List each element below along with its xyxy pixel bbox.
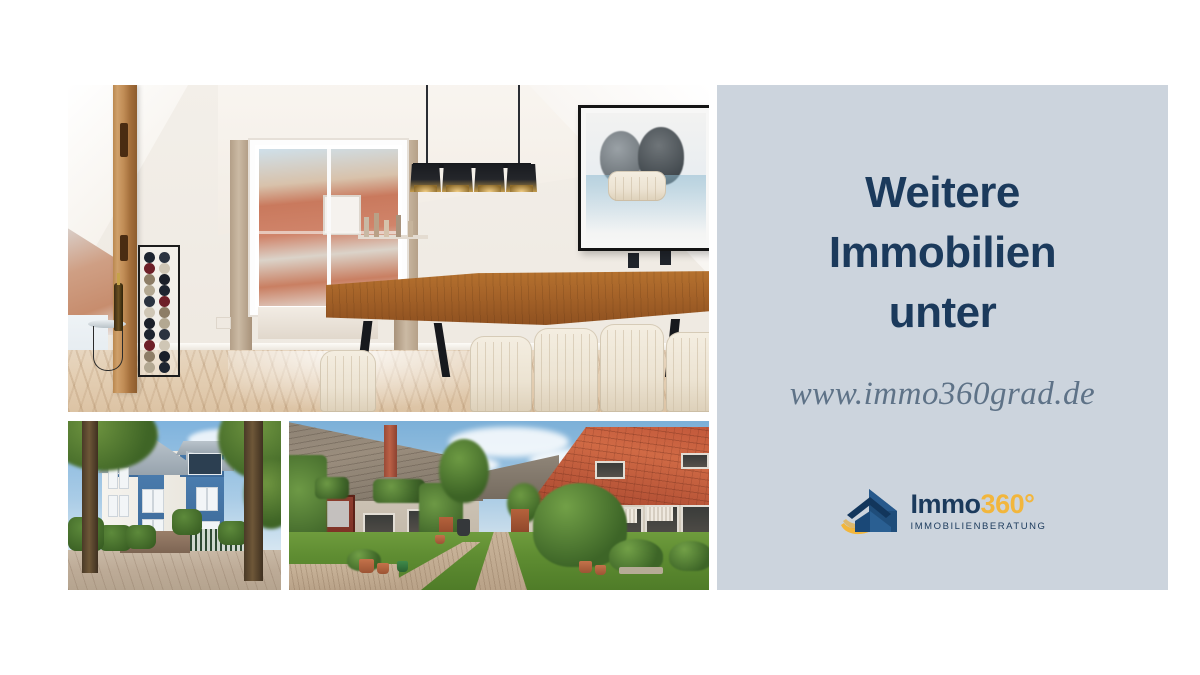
- bottle: [384, 220, 389, 237]
- photo-country-house-courtyard: [289, 421, 709, 590]
- flower-pot: [377, 563, 389, 574]
- logo-wordmark: Immo360° IMMOBILIENBERATUNG: [911, 491, 1047, 532]
- villa-window: [153, 489, 164, 513]
- villa-window: [207, 487, 218, 511]
- wine-bottle: [144, 296, 155, 307]
- promo-panel: Weitere Immobilien unter www.immo360grad…: [717, 85, 1168, 590]
- bottle: [396, 215, 401, 237]
- brick-chimney: [384, 425, 397, 477]
- house-roof-swoosh-icon: [839, 485, 901, 537]
- wine-bottle: [144, 318, 155, 329]
- flower-pot: [397, 561, 408, 572]
- wine-bottle: [144, 274, 155, 285]
- garden-bench: [619, 567, 663, 574]
- roof-skylight: [681, 453, 709, 469]
- headline: Weitere Immobilien unter: [717, 163, 1168, 343]
- wine-bottle: [144, 263, 155, 274]
- background-tree: [439, 439, 489, 503]
- hedge: [126, 525, 156, 549]
- flower-pot: [595, 565, 606, 575]
- headline-line-3: unter: [717, 283, 1168, 343]
- logo-tagline: IMMOBILIENBERATUNG: [911, 522, 1047, 532]
- roof-skylight: [595, 461, 625, 479]
- window-curtain: [647, 507, 673, 521]
- wine-bottle: [144, 285, 155, 296]
- hedge: [172, 509, 202, 535]
- bottle: [408, 221, 413, 237]
- wine-bottle: [144, 340, 155, 351]
- wine-bottle: [159, 296, 170, 307]
- villa-window: [188, 453, 222, 475]
- wine-bottle: [144, 351, 155, 362]
- dining-chair: [534, 328, 598, 412]
- wine-bottle: [144, 307, 155, 318]
- pendant-cord: [518, 85, 520, 163]
- bottle: [374, 213, 379, 237]
- villa-window: [119, 467, 129, 489]
- door-glass-pane: [327, 501, 349, 527]
- garden-bin: [457, 519, 470, 536]
- ivy-growth: [373, 479, 425, 503]
- wine-bottle: [159, 351, 170, 362]
- dining-chair: [470, 336, 532, 412]
- wall-socket: [628, 253, 639, 268]
- flower-pot: [579, 561, 592, 573]
- headline-line-1: Weitere: [717, 163, 1168, 223]
- wine-bottle: [144, 329, 155, 340]
- tree-trunk: [82, 421, 98, 573]
- dining-chair: [600, 324, 664, 412]
- pendant-shade: [442, 164, 473, 192]
- wall-socket: [660, 250, 671, 265]
- flower-pot: [435, 535, 445, 544]
- wine-bottle: [159, 340, 170, 351]
- wine-bottle: [159, 252, 170, 263]
- pendant-shade: [474, 164, 505, 192]
- dining-chair: [608, 171, 666, 201]
- villa-window: [108, 495, 118, 517]
- photo-white-blue-villa: [68, 421, 281, 590]
- villa-window: [196, 487, 207, 511]
- ad-canvas: Weitere Immobilien unter www.immo360grad…: [0, 0, 1200, 675]
- side-table-legs: [93, 326, 123, 371]
- photo-attic-dining-room: [68, 85, 709, 412]
- logo-name: Immo360°: [911, 491, 1035, 518]
- wine-bottle: [159, 362, 170, 373]
- company-logo: Immo360° IMMOBILIENBERATUNG: [717, 485, 1168, 537]
- dining-chair: [666, 332, 709, 412]
- wine-bottle: [159, 307, 170, 318]
- headline-line-2: Immobilien: [717, 223, 1168, 283]
- logo-word-immo: Immo: [911, 489, 981, 519]
- wine-rack: [138, 245, 180, 377]
- ivy-growth: [315, 477, 349, 499]
- shrub: [669, 541, 709, 571]
- dining-chair: [320, 350, 376, 412]
- wine-bottle: [144, 252, 155, 263]
- bottle: [364, 217, 369, 237]
- villa-window: [142, 489, 153, 513]
- logo-word-360: 360°: [981, 489, 1035, 519]
- wall-outlet: [216, 317, 231, 329]
- window-mullion: [327, 149, 331, 306]
- wine-bottle: [159, 318, 170, 329]
- pendant-cord: [426, 85, 428, 163]
- flower-pot: [359, 559, 374, 573]
- curtain-left: [230, 140, 252, 350]
- pendant-shade: [410, 164, 441, 192]
- website-url[interactable]: www.immo360grad.de: [717, 376, 1168, 413]
- wine-bottle: [159, 263, 170, 274]
- wine-bottle: [159, 329, 170, 340]
- wine-bottle: [159, 274, 170, 285]
- pendant-shade: [506, 164, 537, 192]
- champagne-bottle: [114, 283, 123, 331]
- villa-window: [119, 495, 129, 517]
- tree-trunk: [244, 421, 263, 581]
- wine-bottle: [159, 285, 170, 296]
- wine-bottle: [144, 362, 155, 373]
